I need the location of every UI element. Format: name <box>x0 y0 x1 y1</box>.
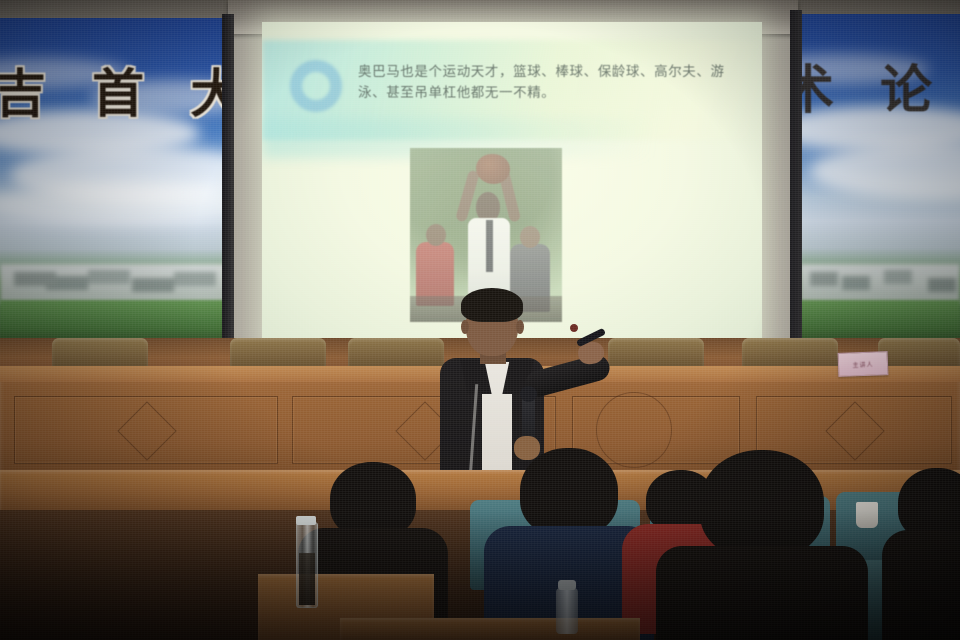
screen-frame-edge-right <box>790 10 802 354</box>
campus-skyline <box>0 264 232 304</box>
lecture-hall-photo: 吉 首 大 术 论 坛 奥巴马也是个运动天才，篮球、棒球、保龄球、高尔夫、游泳、… <box>0 0 960 640</box>
bottle-liquid <box>299 553 315 605</box>
presenter-ear-left <box>461 320 469 334</box>
banner-title-left: 吉 首 大 <box>0 52 232 127</box>
microphone-head <box>520 386 537 402</box>
nameplate-card: 主讲人 <box>838 351 889 377</box>
backdrop-banner-right: 术 论 坛 <box>800 14 960 348</box>
diamond-motif <box>117 401 176 460</box>
audience-torso <box>882 530 960 640</box>
nameplate-text: 主讲人 <box>852 359 873 369</box>
banner-title-right: 术 论 坛 <box>800 48 960 123</box>
presenter-hair <box>461 288 523 322</box>
presenter-hand-microphone <box>514 436 540 460</box>
screen-frame-edge-left <box>222 14 234 354</box>
stage-panel <box>14 396 278 464</box>
campus-skyline <box>800 264 960 304</box>
diamond-motif <box>825 401 884 460</box>
audience-head <box>330 462 416 538</box>
laser-pointer-tip <box>570 324 578 332</box>
backdrop-banner-left: 吉 首 大 <box>0 18 232 348</box>
ring-bullet-icon <box>290 60 342 112</box>
water-bottle <box>296 522 318 608</box>
audience-desk-front-center <box>340 618 640 640</box>
steel-flask <box>556 588 578 634</box>
audience-head <box>700 450 824 558</box>
paper-cup <box>856 502 878 528</box>
audience-head <box>520 448 618 536</box>
cloud <box>810 142 960 200</box>
cloud <box>0 184 232 224</box>
slide-body-text: 奥巴马也是个运动天才，篮球、棒球、保龄球、高尔夫、游泳、甚至吊单杠他都无一不精。 <box>358 62 738 104</box>
presenter-ear-right <box>516 320 524 334</box>
audience-torso <box>656 546 868 640</box>
